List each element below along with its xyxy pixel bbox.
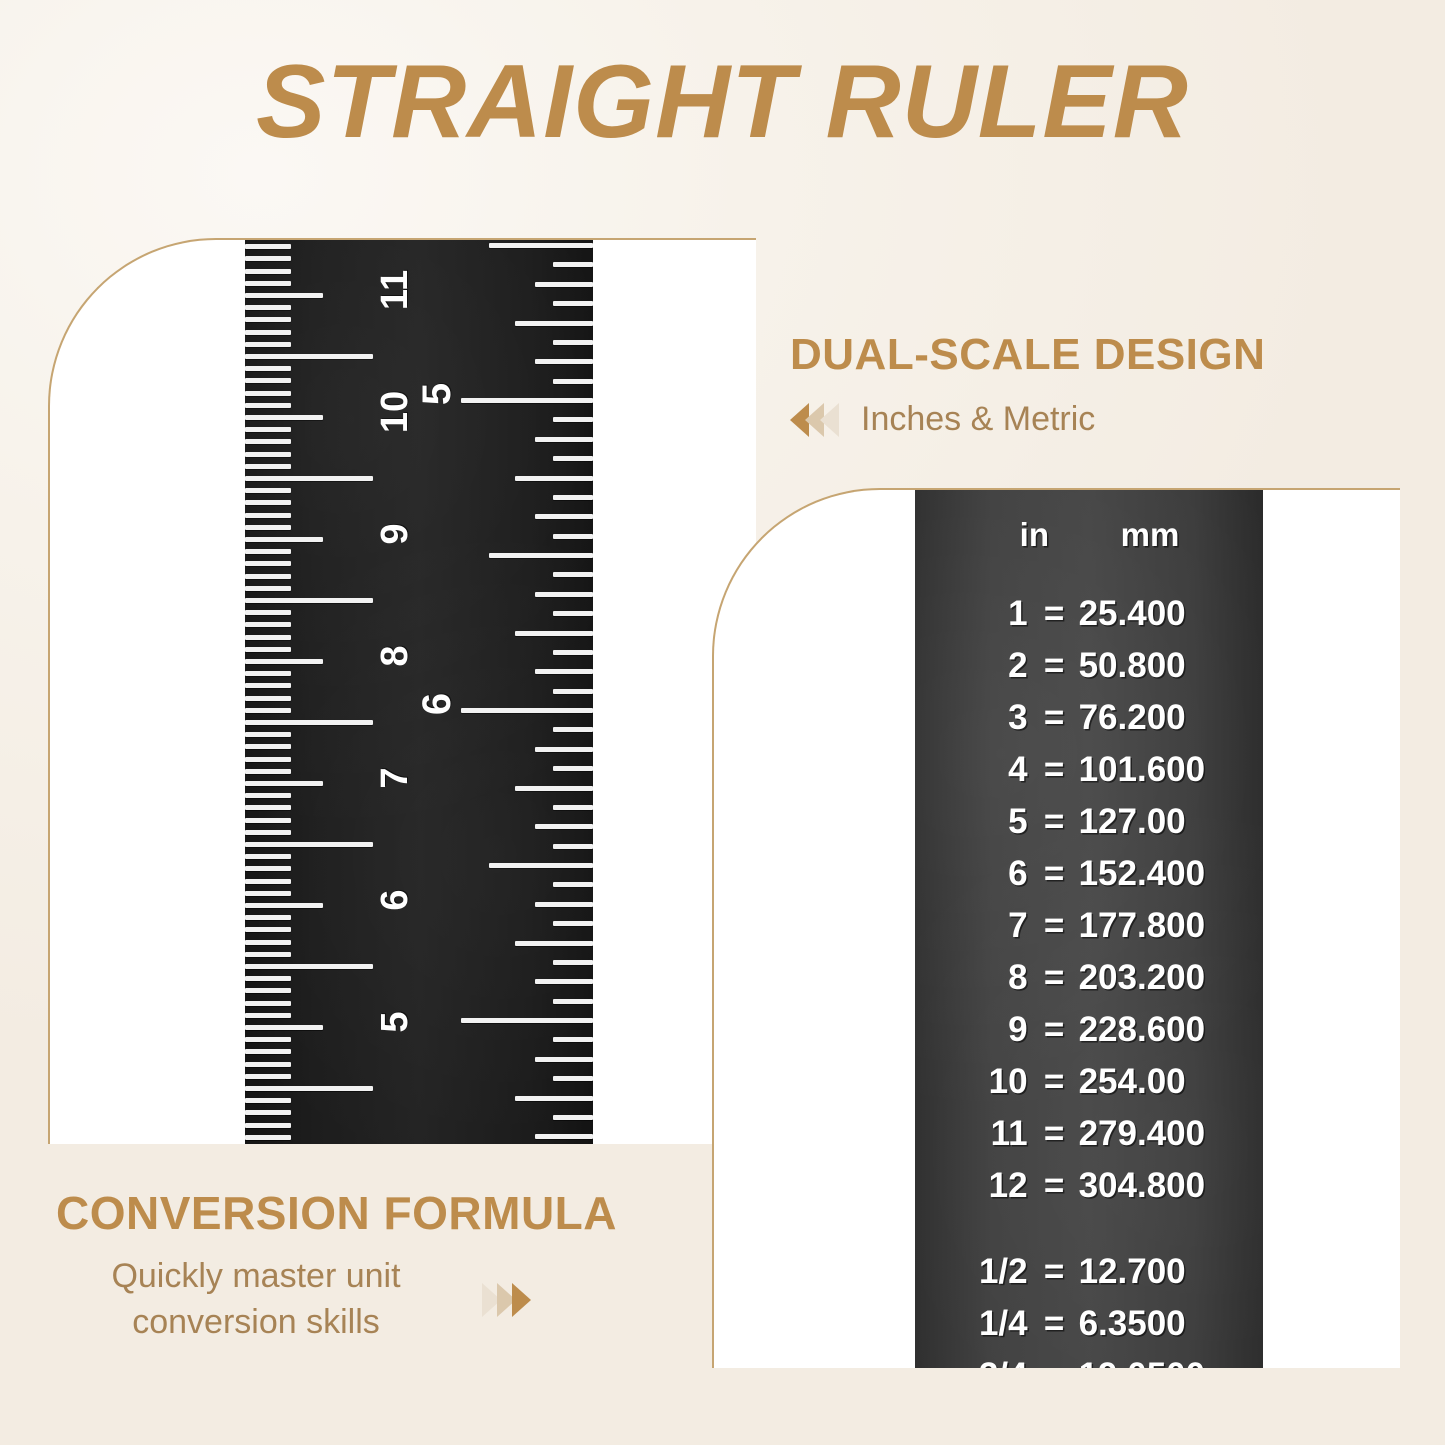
conversion-row-in: 8 [915,960,1038,995]
conversion-row-mm: 203.200 [1071,960,1263,995]
page-title: STRAIGHT RULER [0,48,1445,157]
conversion-row-in: 6 [915,856,1038,891]
conversion-row-equals: = [1038,1168,1071,1203]
conversion-row-in: 7 [915,908,1038,943]
conversion-row-in: 5 [915,804,1038,839]
conversion-row-equals: = [1038,1012,1071,1047]
conversion-formula-subtitle-line1: Quickly master unit [56,1254,456,1300]
dual-scale-block: DUAL-SCALE DESIGN Inches & Metric [790,330,1390,439]
conversion-row-equals: = [1038,700,1071,735]
conversion-row: 2=50.800 [915,648,1263,683]
conversion-row-in: 10 [915,1064,1038,1099]
conversion-row-in: 2 [915,648,1038,683]
conversion-row-equals: = [1038,1064,1071,1099]
conversion-row-equals: = [1038,1358,1071,1368]
conversion-row-in: 12 [915,1168,1038,1203]
conversion-row-equals: = [1038,856,1071,891]
conversion-row-mm: 127.00 [1071,804,1263,839]
conversion-row-equals: = [1038,648,1071,683]
conversion-row: 1=25.400 [915,596,1263,631]
conversion-row-mm: 101.600 [1071,752,1263,787]
conversion-row: 10=254.00 [915,1064,1263,1099]
conversion-row-mm: 177.800 [1071,908,1263,943]
conversion-row-mm: 19.0500 [1071,1358,1263,1368]
conversion-row-mm: 50.800 [1071,648,1263,683]
conversion-formula-block: CONVERSION FORMULA Quickly master unit c… [56,1186,736,1346]
ruler-card-frame [48,238,756,1144]
conversion-row-mm: 254.00 [1071,1064,1263,1099]
conversion-row: 3=76.200 [915,700,1263,735]
conversion-row-mm: 76.200 [1071,700,1263,735]
conversion-row-mm: 12.700 [1071,1254,1263,1289]
conversion-row-mm: 304.800 [1071,1168,1263,1203]
conversion-row-equals: = [1038,1116,1071,1151]
header-in: in [933,516,1055,554]
conversion-row-equals: = [1038,908,1071,943]
dual-scale-title: DUAL-SCALE DESIGN [790,330,1390,380]
conversion-row-equals: = [1038,960,1071,995]
conversion-row-mm: 6.3500 [1071,1306,1263,1341]
conversion-row-in: 3/4 [915,1358,1038,1368]
chevron-left-icon [820,403,839,437]
conversion-row-equals: = [1038,1306,1071,1341]
header-mm: mm [1055,516,1245,554]
conversion-row-equals: = [1038,804,1071,839]
conversion-row: 8=203.200 [915,960,1263,995]
conversion-table-panel: in mm 1=25.4002=50.8003=76.2004=101.6005… [915,490,1263,1368]
conversion-row-in: 1/4 [915,1306,1038,1341]
conversion-row-equals: = [1038,596,1071,631]
conversion-section-gap [915,1220,1263,1254]
conversion-rows-container: 1=25.4002=50.8003=76.2004=101.6005=127.0… [915,596,1263,1368]
conversion-row-in: 3 [915,700,1038,735]
conversion-row-in: 1/2 [915,1254,1038,1289]
conversion-row: 1/2=12.700 [915,1254,1263,1289]
conversion-row: 6=152.400 [915,856,1263,891]
conversion-row-in: 9 [915,1012,1038,1047]
conversion-row: 11=279.400 [915,1116,1263,1151]
conversion-row-equals: = [1038,752,1071,787]
conversion-row-in: 11 [915,1116,1038,1151]
conversion-row-in: 1 [915,596,1038,631]
conversion-row-mm: 25.400 [1071,596,1263,631]
conversion-formula-subtitle: Quickly master unit conversion skills [56,1254,456,1346]
chevron-right-icon [512,1283,531,1317]
conversion-row-mm: 228.600 [1071,1012,1263,1047]
conversion-row: 4=101.600 [915,752,1263,787]
conversion-row: 5=127.00 [915,804,1263,839]
conversion-formula-subtitle-line2: conversion skills [56,1300,456,1346]
conversion-row-equals: = [1038,1254,1071,1289]
infographic-canvas: STRAIGHT RULER 111098765456 MADE IN MQ-1… [0,0,1445,1445]
conversion-formula-title: CONVERSION FORMULA [56,1186,736,1240]
dual-scale-subtitle: Inches & Metric [861,400,1095,439]
conversion-row: 3/4=19.0500 [915,1358,1263,1368]
conversion-row-mm: 152.400 [1071,856,1263,891]
conversion-row: 12=304.800 [915,1168,1263,1203]
chevron-left-group [790,403,835,437]
conversion-row: 9=228.600 [915,1012,1263,1047]
conversion-row-mm: 279.400 [1071,1116,1263,1151]
conversion-table-header: in mm [915,516,1263,554]
chevron-right-group [486,1283,531,1317]
conversion-row-in: 4 [915,752,1038,787]
conversion-row: 7=177.800 [915,908,1263,943]
conversion-row: 1/4=6.3500 [915,1306,1263,1341]
